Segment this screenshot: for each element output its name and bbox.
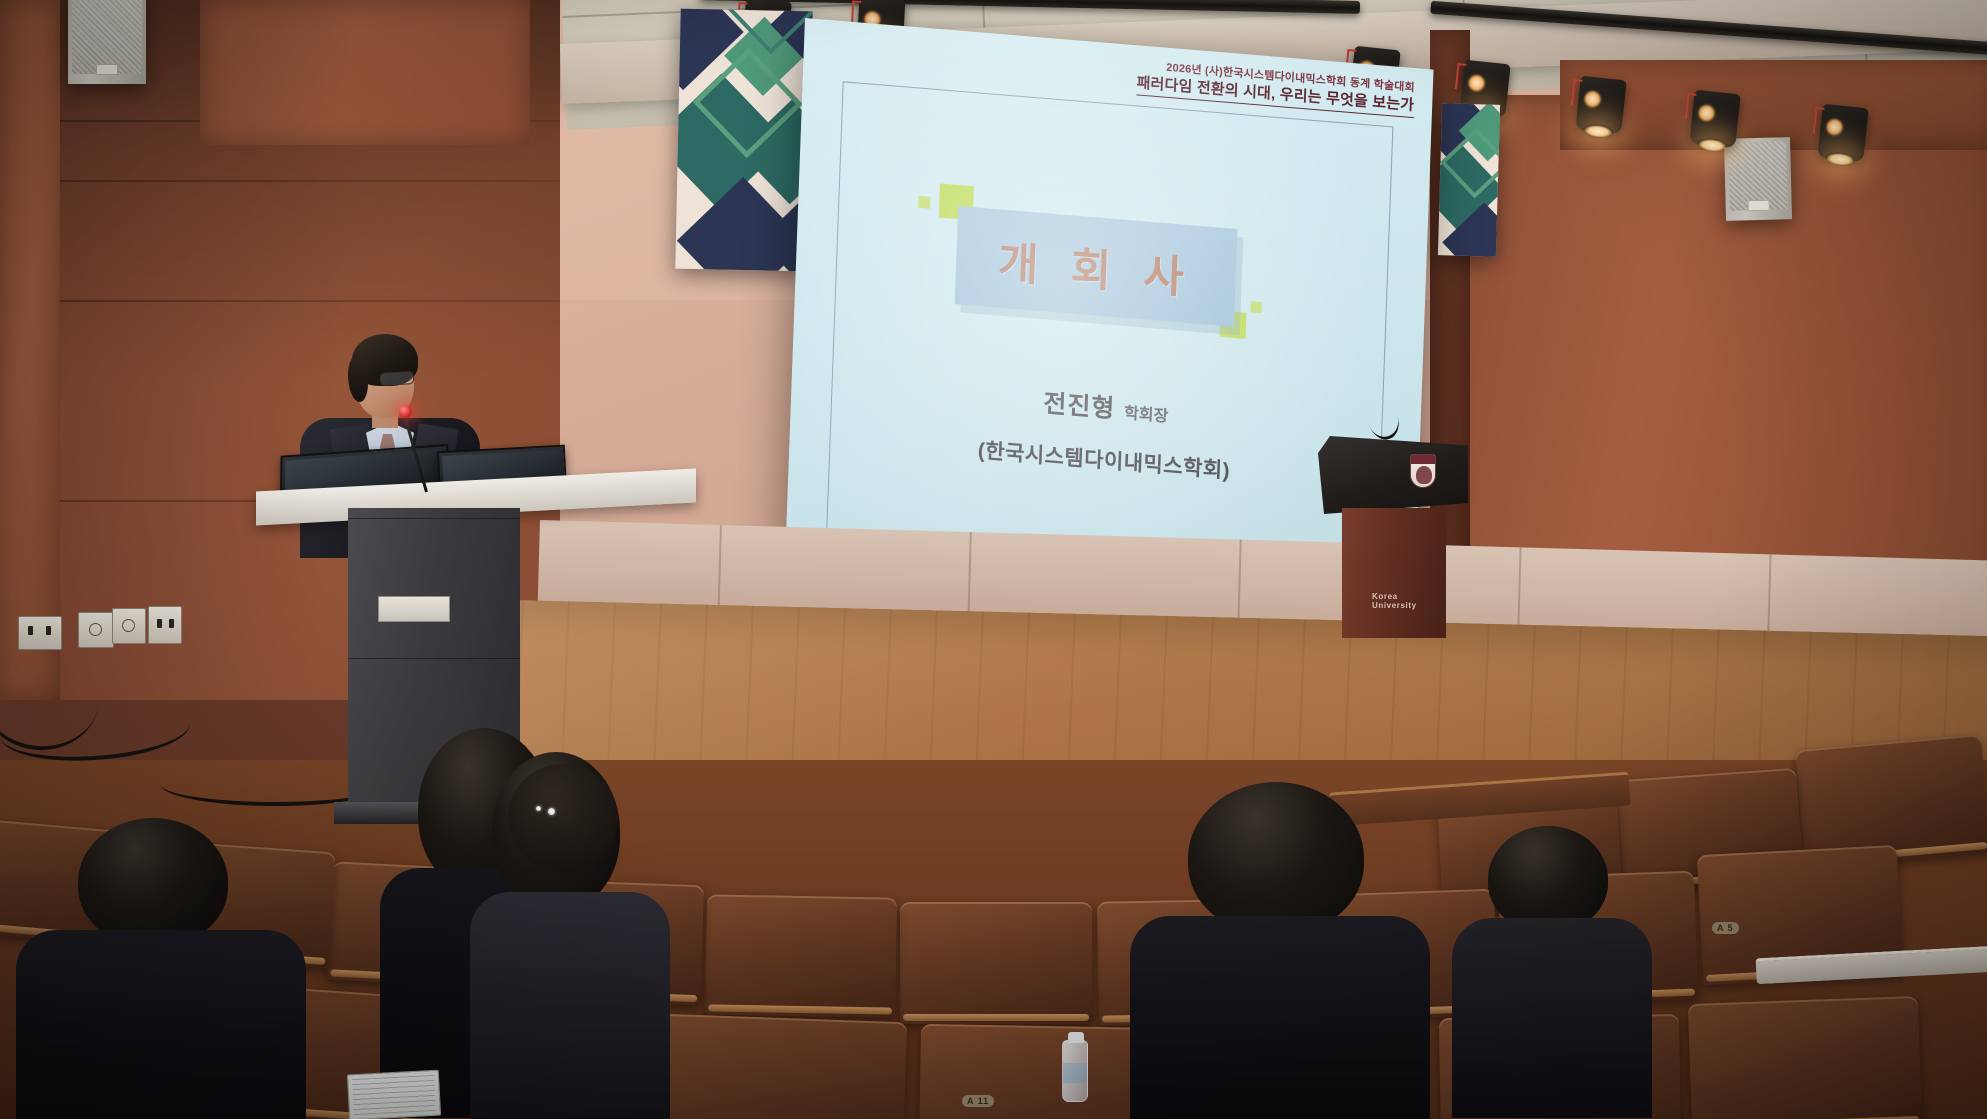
speaker-grille: [72, 0, 142, 74]
wooden-lectern-column: [1342, 508, 1446, 638]
bottle-label: [1063, 1063, 1087, 1083]
accent-square-green-small: [918, 196, 930, 209]
spotlight-glow: [1698, 104, 1716, 122]
geometric-banner: [675, 9, 812, 272]
korea-university-crest: [1410, 454, 1436, 488]
stage-spotlight: [1817, 104, 1868, 163]
lectern-control-plate[interactable]: [378, 596, 450, 622]
wall-mounted-loudspeaker: [68, 0, 146, 84]
seat-number-tag: A 5: [1712, 922, 1739, 934]
spotlight-glow: [1826, 118, 1844, 136]
crest-tiger-icon: [1416, 466, 1432, 484]
spotlight-yoke: [1571, 79, 1583, 106]
auditorium-seat[interactable]: [900, 902, 1092, 1024]
bottle-cap: [1068, 1032, 1084, 1043]
speaker-tag: [96, 64, 118, 75]
spotlight-glow: [1468, 74, 1486, 92]
laptop[interactable]: [347, 1070, 441, 1119]
accent-square-green-small: [1251, 301, 1262, 313]
stage-spotlight: [1689, 90, 1740, 149]
audience-head: [78, 818, 228, 946]
gooseneck-microphone: [399, 405, 412, 418]
wooden-lectern-hood: [1318, 436, 1468, 514]
audience-shoulder: [470, 892, 670, 1119]
wall-power-outlet[interactable]: [78, 612, 114, 648]
presenter-role: 학회장: [1124, 405, 1169, 426]
audience-head: [1488, 826, 1608, 932]
geometric-banner: [1438, 103, 1500, 257]
wall-power-outlet[interactable]: [112, 608, 146, 644]
auditorium-photo: 2026년 (사)한국시스템다이내믹스학회 동계 학술대회 패러다임 전환의 시…: [0, 0, 1987, 1119]
spotlight-yoke: [1813, 107, 1825, 134]
audience-hair-bun: [508, 764, 618, 872]
wall-power-outlet[interactable]: [148, 606, 182, 644]
wood-panel: [0, 0, 60, 700]
wood-panel: [200, 0, 530, 145]
water-bottle[interactable]: [1062, 1040, 1088, 1102]
audience-shoulder: [1130, 916, 1430, 1119]
hair-pin: [548, 808, 555, 815]
spotlight-yoke: [1685, 93, 1697, 120]
auditorium-seat[interactable]: [705, 894, 897, 1017]
right-wood-wall: [1430, 95, 1987, 615]
seat-number-tag: A 11: [962, 1095, 994, 1107]
crest-band: [1411, 455, 1435, 464]
laptop-screen-text: [352, 1075, 436, 1115]
audience-shoulder: [1452, 918, 1652, 1118]
stage-spotlight: [1575, 76, 1626, 135]
spotlight-glow: [1584, 90, 1602, 108]
wooden-lectern-brand: Korea University: [1372, 592, 1417, 610]
presenter-glasses: [380, 371, 415, 386]
wall-mounted-loudspeaker: [1724, 137, 1792, 221]
hair-pin: [536, 806, 541, 811]
presenter-name: 전진형: [1043, 389, 1116, 423]
audience-shoulder: [16, 930, 306, 1119]
speaker-tag: [1748, 200, 1770, 212]
slide-title: 개 회 사: [997, 226, 1195, 306]
auditorium-seat[interactable]: [658, 1014, 907, 1119]
spotlight-yoke: [1455, 63, 1467, 90]
auditorium-seat[interactable]: [1688, 996, 1922, 1119]
audience-head: [1188, 782, 1364, 934]
